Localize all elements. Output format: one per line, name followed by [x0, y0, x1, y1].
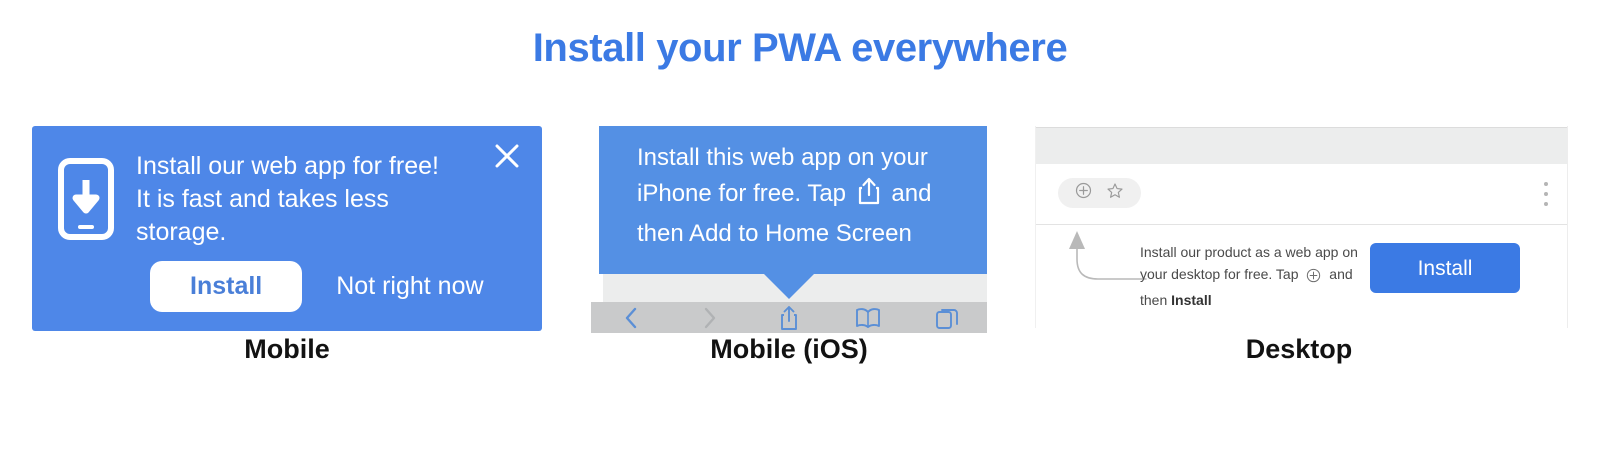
- tabs-icon[interactable]: [908, 306, 987, 330]
- mobile-actions: Install Not right now: [150, 261, 490, 312]
- back-chevron-icon[interactable]: [591, 306, 670, 330]
- panel-desktop: Install our product as a web app on your…: [1030, 126, 1568, 328]
- desktop-promo-text-bold: Install: [1171, 292, 1211, 308]
- share-icon: [857, 177, 881, 216]
- ios-message-line-1: Install this web app on your: [637, 140, 971, 176]
- tooltip-pointer-arrow: [763, 273, 815, 299]
- ios-browser-frame: Install this web app on your iPhone for …: [591, 126, 987, 333]
- phone-download-icon: [58, 158, 114, 240]
- mobile-message-line-3: storage.: [136, 216, 496, 249]
- install-plus-circle-icon[interactable]: [1075, 182, 1092, 204]
- ios-message-line-2: iPhone for free. Tap and: [637, 176, 971, 216]
- browser-tab-strip: [1036, 127, 1568, 165]
- mobile-message-line-1: Install our web app for free!: [136, 150, 496, 183]
- browser-toolbar: [1036, 164, 1568, 224]
- mobile-install-banner: Install our web app for free! It is fast…: [32, 126, 542, 331]
- ios-install-tooltip: Install this web app on your iPhone for …: [599, 126, 987, 274]
- forward-chevron-icon: [670, 306, 749, 330]
- panels-row: Install our web app for free! It is fast…: [0, 126, 1600, 446]
- panel-mobile-ios: Install this web app on your iPhone for …: [591, 126, 987, 333]
- omnibox-actions-pill[interactable]: [1058, 178, 1141, 208]
- bookmarks-book-icon[interactable]: [829, 307, 908, 329]
- kebab-menu-icon[interactable]: [1543, 182, 1548, 206]
- page-title: Install your PWA everywhere: [0, 26, 1600, 71]
- browser-right-edge: [1567, 126, 1568, 328]
- caption-desktop: Desktop: [1030, 334, 1568, 365]
- ios-message-line-2-b: and: [891, 180, 931, 207]
- install-button[interactable]: Install: [150, 261, 302, 312]
- not-right-now-button[interactable]: Not right now: [330, 271, 489, 302]
- ios-safari-toolbar: [591, 302, 987, 333]
- mobile-message-line-2: It is fast and takes less: [136, 183, 496, 216]
- desktop-install-button[interactable]: Install: [1370, 243, 1520, 293]
- ios-message-line-3: then Add to Home Screen: [637, 216, 971, 252]
- caption-mobile: Mobile: [32, 334, 542, 365]
- close-icon[interactable]: [492, 141, 522, 171]
- desktop-browser-frame: Install our product as a web app on your…: [1030, 126, 1568, 328]
- panel-mobile: Install our web app for free! It is fast…: [32, 126, 542, 331]
- desktop-promo-text-part1: Install our product as a web app on your…: [1140, 244, 1358, 282]
- desktop-promo-area: Install our product as a web app on your…: [1036, 225, 1568, 328]
- mobile-message: Install our web app for free! It is fast…: [136, 150, 496, 249]
- desktop-promo-text: Install our product as a web app on your…: [1140, 241, 1358, 311]
- install-plus-circle-icon: [1306, 267, 1321, 289]
- curved-up-arrow-icon: [1058, 229, 1148, 296]
- share-icon[interactable]: [749, 305, 828, 331]
- bookmark-star-icon[interactable]: [1106, 182, 1124, 205]
- caption-mobile-ios: Mobile (iOS): [591, 334, 987, 365]
- ios-message-line-2-a: iPhone for free. Tap: [637, 180, 846, 207]
- ios-gap-left-edge: [591, 274, 599, 302]
- ios-gap-left-edge-2: [599, 274, 603, 302]
